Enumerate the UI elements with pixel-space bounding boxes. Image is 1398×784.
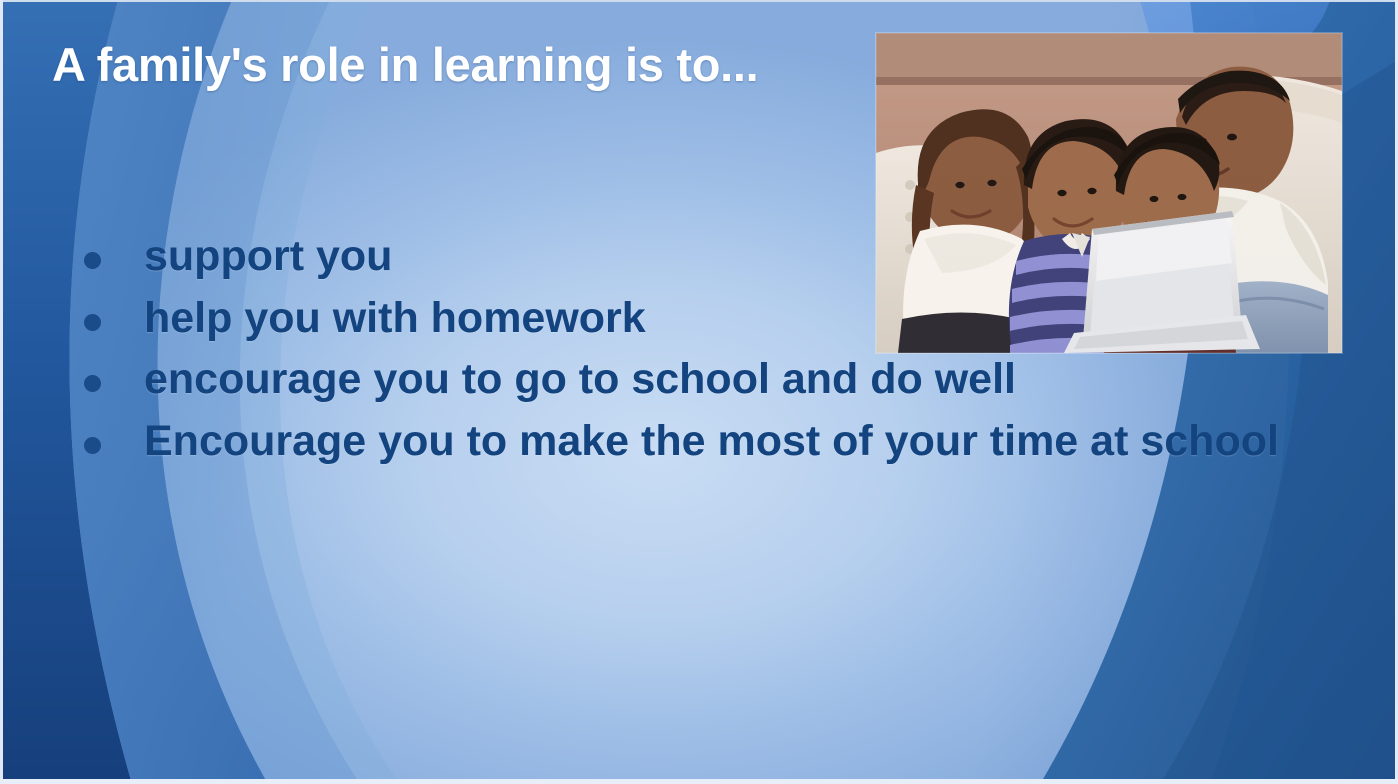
bullet-dot-icon: [84, 375, 101, 392]
slide-border-top: [0, 0, 1398, 2]
list-item: Encourage you to make the most of your t…: [84, 413, 1314, 471]
list-item: help you with homework: [84, 290, 1314, 348]
bullet-dot-icon: [84, 437, 101, 454]
bullet-dot-icon: [84, 252, 101, 269]
list-item: encourage you to go to school and do wel…: [84, 351, 1314, 409]
page-title: A family's role in learning is to...: [52, 38, 852, 93]
slide-border-bottom: [0, 779, 1398, 784]
bullet-list: support you help you with homework encou…: [84, 228, 1314, 474]
list-item-label: support you: [144, 228, 1314, 286]
list-item-label: encourage you to go to school and do wel…: [144, 351, 1314, 409]
list-item-label: Encourage you to make the most of your t…: [144, 413, 1314, 471]
list-item: support you: [84, 228, 1314, 286]
presentation-slide: A family's role in learning is to... sup…: [0, 0, 1398, 784]
list-item-label: help you with homework: [144, 290, 1314, 348]
bullet-dot-icon: [84, 314, 101, 331]
slide-border-left: [0, 0, 3, 784]
